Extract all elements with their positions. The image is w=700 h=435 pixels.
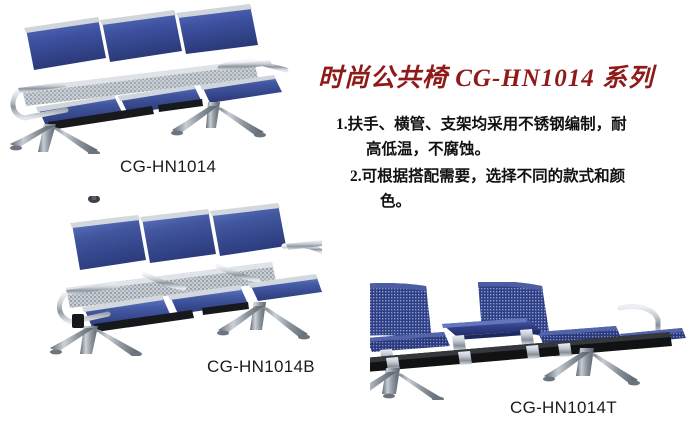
product-caption-cg-hn1014b: CG-HN1014B: [207, 357, 315, 377]
spec-1-number: 1.: [336, 116, 348, 133]
product-caption-cg-hn1014: CG-HN1014: [120, 157, 216, 177]
spec-item-1: 1.扶手、横管、支架均采用不锈钢编制，耐 高低温，不腐蚀。: [336, 112, 692, 162]
seat-back-group: [70, 203, 286, 270]
product-caption-cg-hn1014t: CG-HN1014T: [510, 398, 617, 418]
specification-list: 1.扶手、横管、支架均采用不锈钢编制，耐 高低温，不腐蚀。 2.可根据搭配需要，…: [336, 112, 692, 216]
page-title: 时尚公共椅 CG-HN1014 系列: [318, 58, 654, 94]
seat-back-group: [24, 4, 258, 70]
product-image-cg-hn1014: [2, 2, 302, 154]
armrest-right: [620, 307, 658, 335]
spec-2-line2: 色。: [380, 189, 692, 214]
seat-back-1: [370, 283, 432, 340]
product-image-cg-hn1014b: [22, 196, 322, 356]
spec-2-number: 2.: [350, 168, 362, 185]
spec-1-line1: 扶手、横管、支架均采用不锈钢编制，耐: [348, 116, 627, 133]
spec-2-line1: 可根据搭配需要，选择不同的款式和颜: [362, 168, 626, 185]
product-image-cg-hn1014t: [370, 282, 698, 400]
product-catalog-page: 时尚公共椅 CG-HN1014 系列 1.扶手、横管、支架均采用不锈钢编制，耐 …: [0, 0, 700, 435]
spec-item-2: 2.可根据搭配需要，选择不同的款式和颜 色。: [350, 164, 692, 214]
spec-1-line2: 高低温，不腐蚀。: [366, 137, 692, 162]
